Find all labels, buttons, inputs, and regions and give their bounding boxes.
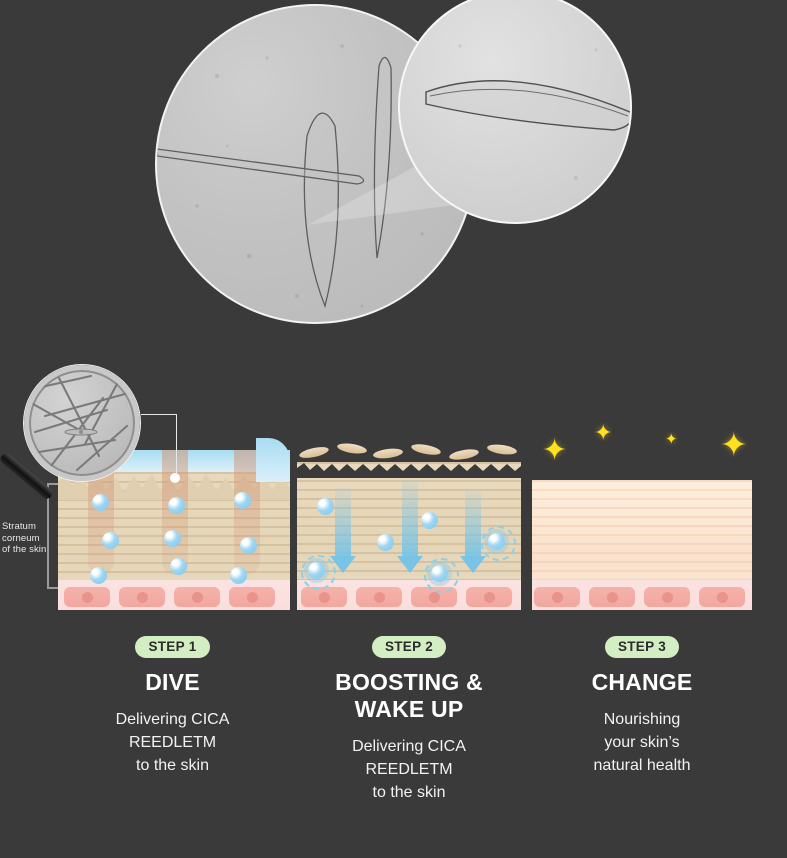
step-badge-3: STEP 3 (605, 636, 679, 658)
skin-diagram-change: ✦ ✦ ✦ ✦ (532, 480, 752, 610)
microscope-view-needle-tip-zoom (398, 0, 632, 224)
step-desc-1-line-2: REEDLETM (55, 731, 290, 754)
step-title-3: CHANGE (530, 669, 754, 696)
serum-droplet (240, 537, 257, 554)
dermis-cell (699, 587, 745, 607)
step-desc-1: Delivering CICA REEDLETM to the skin (55, 708, 290, 777)
step-title-2-line-1: BOOSTING & (295, 669, 523, 696)
step-desc-3-line-1: Nourishing (530, 708, 754, 731)
skin-flake (336, 442, 367, 456)
skin-body-3 (532, 480, 752, 610)
serum-droplet (230, 567, 247, 584)
step-desc-2: Delivering CICA REEDLETM to the skin (295, 735, 523, 804)
serum-droplet (234, 492, 251, 509)
step-title-2: BOOSTING & WAKE UP (295, 669, 523, 723)
step-badge-1: STEP 1 (135, 636, 209, 658)
dermis-cell (534, 587, 580, 607)
dermis-cell (174, 587, 220, 607)
serum-droplet (102, 532, 119, 549)
serum-droplet (377, 534, 394, 551)
dermis-cell (466, 587, 512, 607)
serum-droplet (164, 530, 181, 547)
step-desc-3-line-2: your skin’s (530, 731, 754, 754)
step-caption-2: STEP 2 BOOSTING & WAKE UP Delivering CIC… (295, 636, 523, 804)
serum-droplet (421, 512, 438, 529)
step-desc-3-line-3: natural health (530, 754, 754, 777)
step-desc-1-line-3: to the skin (55, 754, 290, 777)
serum-wave-hook (256, 438, 290, 482)
dermis-cell (119, 587, 165, 607)
penetration-arrow (330, 488, 356, 558)
dermis-cell (64, 587, 110, 607)
skin-body-2 (297, 462, 521, 610)
skin-flake (448, 447, 479, 461)
step-desc-1-line-1: Delivering CICA (55, 708, 290, 731)
skin-flake (373, 447, 404, 460)
sparkle-icon: ✦ (594, 422, 612, 444)
skin-flake (298, 445, 329, 460)
dermis-cell (356, 587, 402, 607)
serum-droplet (170, 558, 187, 575)
skin-surface-jagged-2 (297, 462, 521, 478)
stratum-label-line-2: corneum (2, 533, 50, 545)
stratum-label-line-3: of the skin (2, 544, 50, 556)
sparkle-icon: ✦ (720, 428, 748, 461)
skin-flake (410, 442, 441, 457)
dermis-cell (589, 587, 635, 607)
step-title-1: DIVE (55, 669, 290, 696)
sparkle-icon: ✦ (542, 436, 567, 466)
magnifier-lens (24, 365, 140, 481)
infographic-page: Stratum corneum of the skin (0, 0, 787, 858)
step-caption-1: STEP 1 DIVE Delivering CICA REEDLETM to … (55, 636, 290, 777)
serum-droplet-active (431, 565, 448, 582)
step-desc-3: Nourishing your skin’s natural health (530, 708, 754, 777)
dermis-cell (644, 587, 690, 607)
serum-droplet-active (488, 533, 505, 550)
serum-droplet (90, 567, 107, 584)
dermis-cell (229, 587, 275, 607)
step-badge-2: STEP 2 (372, 636, 446, 658)
sparkle-icon: ✦ (665, 432, 678, 447)
microneedles-in-lens (29, 370, 139, 480)
serum-droplet-active (308, 562, 325, 579)
magnifier-microneedles (0, 360, 180, 530)
step-desc-2-line-2: REEDLETM (295, 758, 523, 781)
dermis-cell (301, 587, 347, 607)
step-desc-2-line-1: Delivering CICA (295, 735, 523, 758)
skin-flake (487, 443, 518, 456)
leader-endpoint-dot (170, 473, 180, 483)
serum-droplet (317, 498, 334, 515)
step-caption-3: STEP 3 CHANGE Nourishing your skin’s nat… (530, 636, 754, 777)
skin-diagram-boosting (297, 462, 521, 610)
step-title-2-line-2: WAKE UP (295, 696, 523, 723)
step-desc-2-line-3: to the skin (295, 781, 523, 804)
penetration-arrow (397, 480, 423, 558)
